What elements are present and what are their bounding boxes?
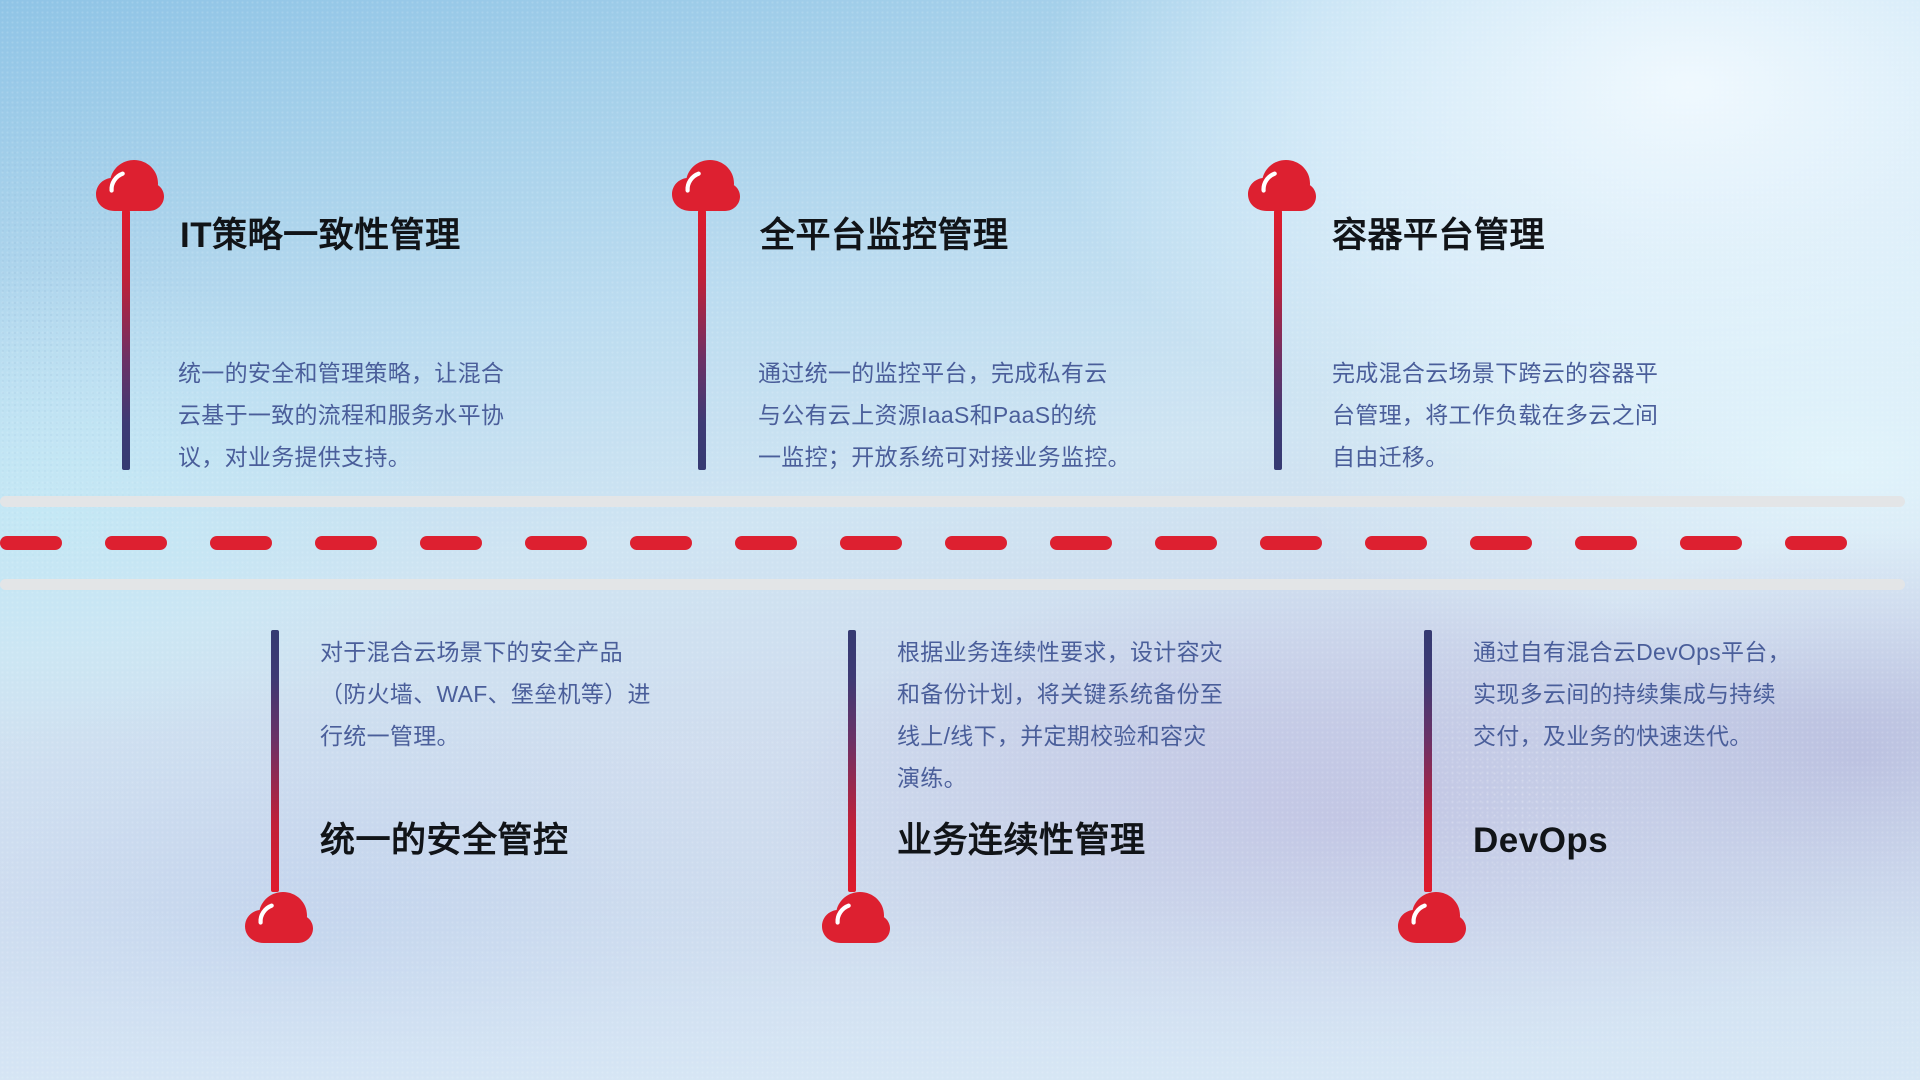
road-line-bottom	[0, 579, 1905, 590]
cloud-icon	[245, 892, 313, 944]
feature-heading-2: 全平台监控管理	[760, 218, 1009, 253]
feature-body-5: 根据业务连续性要求，设计容灾 和备份计划，将关键系统备份至 线上/线下，并定期校…	[897, 631, 1337, 799]
cloud-icon	[1398, 892, 1466, 944]
cloud-icon	[1248, 160, 1316, 212]
connector-line-5	[848, 630, 856, 892]
cloud-icon	[672, 160, 740, 212]
road-dash	[1260, 536, 1322, 550]
road-dash	[420, 536, 482, 550]
road-dash	[1470, 536, 1532, 550]
road-dash	[105, 536, 167, 550]
road-dash	[630, 536, 692, 550]
road-dash	[210, 536, 272, 550]
cloud-icon	[96, 160, 164, 212]
connector-line-1	[122, 210, 130, 470]
cloud-icon	[822, 892, 890, 944]
cloud-pin-2	[672, 160, 746, 212]
road-dash	[1575, 536, 1637, 550]
feature-heading-6: DevOps	[1473, 823, 1608, 858]
road-dash	[1050, 536, 1112, 550]
feature-body-6: 通过自有混合云DevOps平台， 实现多云间的持续集成与持续 交付，及业务的快速…	[1473, 631, 1913, 757]
connector-line-6	[1424, 630, 1432, 892]
road-dash	[525, 536, 587, 550]
feature-heading-3: 容器平台管理	[1332, 218, 1545, 253]
road-line-top	[0, 496, 1905, 507]
road-dash	[1365, 536, 1427, 550]
feature-body-4: 对于混合云场景下的安全产品 （防火墙、WAF、堡垒机等）进 行统一管理。	[320, 631, 750, 757]
feature-heading-4: 统一的安全管控	[320, 823, 569, 858]
feature-body-3: 完成混合云场景下跨云的容器平 台管理，将工作负载在多云之间 自由迁移。	[1332, 352, 1782, 478]
road-dash	[945, 536, 1007, 550]
feature-heading-1: IT策略一致性管理	[180, 218, 461, 253]
road-dash	[315, 536, 377, 550]
road-dashed-centerline	[0, 536, 1920, 550]
road-dash	[840, 536, 902, 550]
feature-body-1: 统一的安全和管理策略，让混合 云基于一致的流程和服务水平协 议，对业务提供支持。	[178, 352, 618, 478]
feature-heading-5: 业务连续性管理	[897, 823, 1146, 858]
cloud-pin-1	[96, 160, 170, 212]
road-divider	[0, 488, 1920, 598]
feature-body-2: 通过统一的监控平台，完成私有云 与公有云上资源IaaS和PaaS的统 一监控；开…	[758, 352, 1218, 478]
road-dash	[1680, 536, 1742, 550]
road-dash	[1785, 536, 1847, 550]
cloud-pin-3	[1248, 160, 1322, 212]
road-dash	[735, 536, 797, 550]
connector-line-4	[271, 630, 279, 892]
road-dash	[0, 536, 62, 550]
connector-line-2	[698, 210, 706, 470]
connector-line-3	[1274, 210, 1282, 470]
road-dash	[1155, 536, 1217, 550]
